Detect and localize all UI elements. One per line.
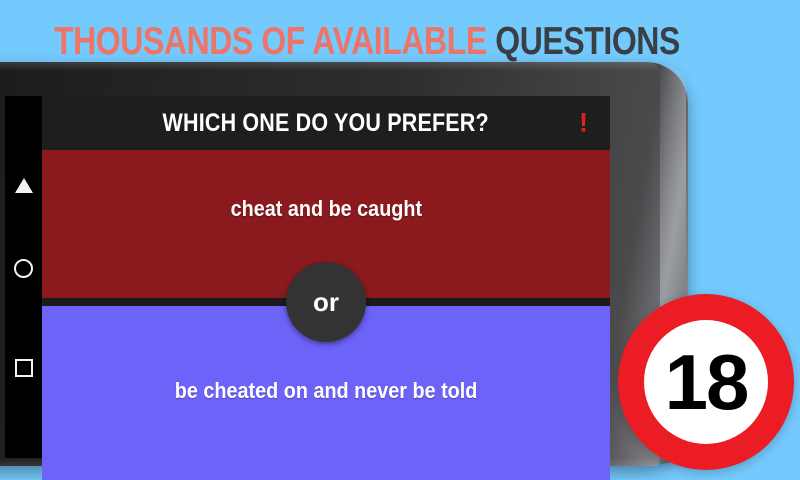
home-circle-icon xyxy=(14,259,33,278)
report-exclamation-icon[interactable]: ! xyxy=(579,110,588,137)
phone-device-mockup: WHICH ONE DO YOU PREFER? ! cheat and be … xyxy=(0,62,688,466)
nav-recents-button[interactable] xyxy=(5,318,42,418)
promo-banner: THOUSANDS OF AVAILABLE QUESTIONS WHICH O… xyxy=(0,0,800,480)
app-screen: WHICH ONE DO YOU PREFER? ! cheat and be … xyxy=(42,96,610,480)
or-separator-label: or xyxy=(313,289,339,315)
android-navigation-bar xyxy=(5,96,42,458)
age-rating-value: 18 xyxy=(665,343,748,421)
recents-square-icon xyxy=(15,359,33,377)
or-separator-badge: or xyxy=(286,262,366,342)
age-rating-badge-face: 18 xyxy=(644,320,768,444)
phone-top-highlight xyxy=(0,62,658,71)
back-triangle-icon xyxy=(15,161,33,176)
promo-headline-highlight: THOUSANDS OF AVAILABLE xyxy=(54,20,487,63)
promo-headline-rest: QUESTIONS xyxy=(495,20,680,63)
answer-option-b-label: be cheated on and never be told xyxy=(175,378,478,404)
screen-bottom-filler xyxy=(42,454,610,480)
answer-option-a-label: cheat and be caught xyxy=(230,196,421,222)
promo-headline: THOUSANDS OF AVAILABLE QUESTIONS xyxy=(54,18,628,66)
nav-home-button[interactable] xyxy=(5,218,42,318)
nav-back-button[interactable] xyxy=(5,118,42,218)
app-header-bar: WHICH ONE DO YOU PREFER? ! xyxy=(42,96,610,150)
age-rating-badge: 18 xyxy=(618,294,794,470)
app-question-title: WHICH ONE DO YOU PREFER? xyxy=(163,109,489,138)
